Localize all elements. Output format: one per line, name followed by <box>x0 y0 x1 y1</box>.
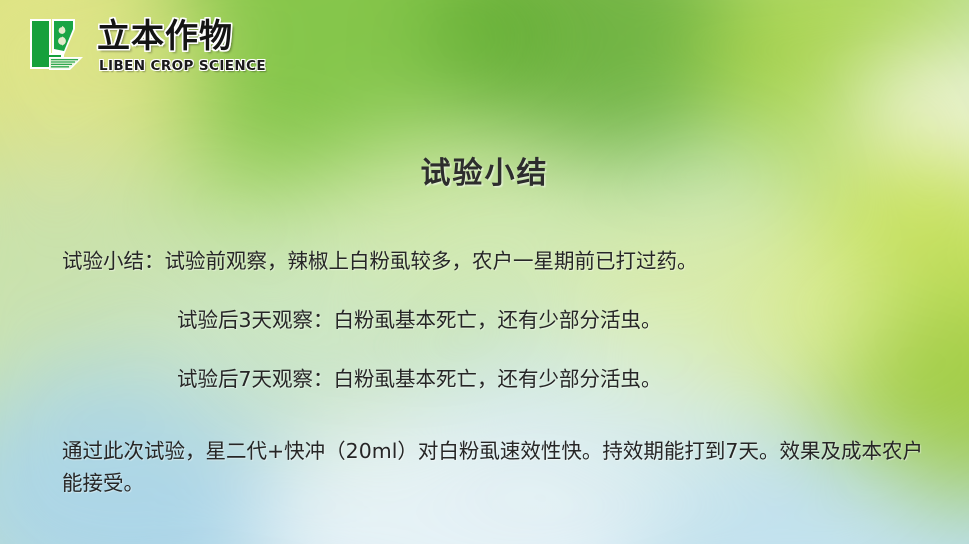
bokeh-blob <box>700 0 969 170</box>
observation-day7-line: 试验后7天观察：白粉虱基本死亡，还有少部分活虫。 <box>177 364 662 394</box>
bokeh-blob <box>760 150 969 450</box>
liben-leaf-book-logo-icon <box>27 17 91 79</box>
bokeh-blob <box>150 250 430 450</box>
logo-wordmark: 立本作物 LIBEN CROP SCIENCE <box>97 17 247 79</box>
conclusion-paragraph: 通过此次试验，星二代+快冲（20ml）对白粉虱速效性快。持效期能打到7天。效果及… <box>62 435 928 499</box>
slide-title: 试验小结 <box>0 148 969 192</box>
bokeh-blob <box>845 40 969 220</box>
presentation-slide: 立本作物 LIBEN CROP SCIENCE 试验小结 试验小结：试验前观察，… <box>0 0 969 544</box>
bokeh-blob <box>440 330 740 530</box>
logo-chinese-name: 立本作物 <box>97 18 233 54</box>
company-logo: 立本作物 LIBEN CROP SCIENCE <box>27 17 242 87</box>
bokeh-blob <box>430 0 760 160</box>
observation-day3-line: 试验后3天观察：白粉虱基本死亡，还有少部分活虫。 <box>177 305 662 335</box>
summary-intro-line: 试验小结：试验前观察，辣椒上白粉虱较多，农户一星期前已打过药。 <box>62 246 698 276</box>
logo-english-name: LIBEN CROP SCIENCE <box>99 58 266 74</box>
